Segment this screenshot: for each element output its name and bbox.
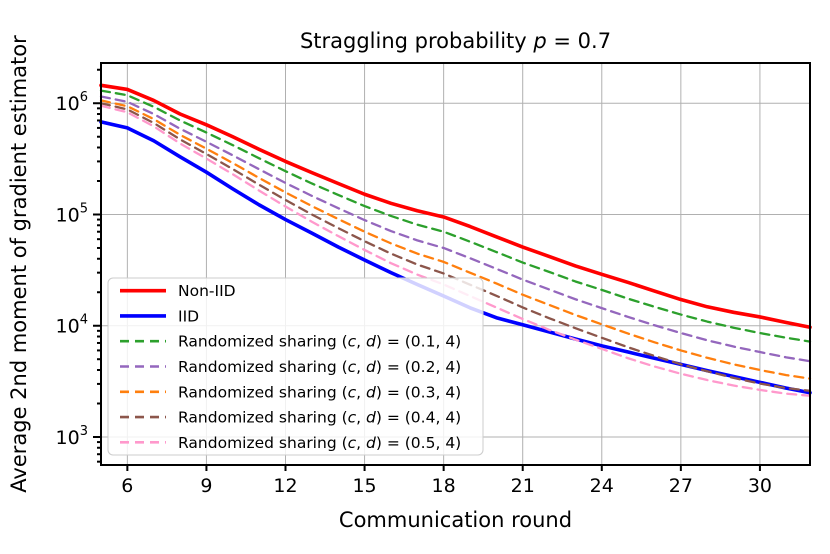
xtick-label: 21	[511, 475, 535, 497]
legend-label-2[interactable]: Randomized sharing (c, d) = (0.1, 4)	[178, 333, 461, 351]
xtick-labels: 6912151821242730	[121, 475, 772, 497]
xtick-label: 27	[669, 475, 693, 497]
xtick-label: 9	[200, 475, 212, 497]
xtick-label: 12	[273, 475, 297, 497]
xtick-label: 15	[352, 475, 376, 497]
xtick-label: 24	[590, 475, 614, 497]
ytick-label: 105	[56, 201, 88, 226]
legend-label-5[interactable]: Randomized sharing (c, d) = (0.4, 4)	[178, 409, 461, 427]
ytick-label: 106	[56, 90, 88, 115]
ytick-labels: 103104105106	[56, 90, 88, 449]
legend-label-0[interactable]: Non-IID	[178, 282, 236, 300]
x-axis-label: Communication round	[339, 508, 572, 532]
ytick-label: 104	[56, 313, 88, 338]
xtick-label: 18	[432, 475, 456, 497]
xtick-label: 6	[121, 475, 133, 497]
legend-label-6[interactable]: Randomized sharing (c, d) = (0.5, 4)	[178, 434, 461, 452]
legend-label-1[interactable]: IID	[178, 307, 199, 325]
y-axis-label: Average 2nd moment of gradient estimator	[7, 35, 31, 493]
legend-label-3[interactable]: Randomized sharing (c, d) = (0.2, 4)	[178, 358, 461, 376]
ytick-label: 103	[56, 424, 88, 449]
legend-label-4[interactable]: Randomized sharing (c, d) = (0.3, 4)	[178, 383, 461, 401]
chart-canvas: 6912151821242730103104105106Straggling p…	[0, 0, 830, 554]
xtick-label: 30	[748, 475, 772, 497]
legend: Non-IIDIIDRandomized sharing (c, d) = (0…	[108, 278, 483, 455]
figure-container: 6912151821242730103104105106Straggling p…	[0, 0, 830, 554]
chart-title: Straggling probability p = 0.7	[300, 29, 611, 53]
